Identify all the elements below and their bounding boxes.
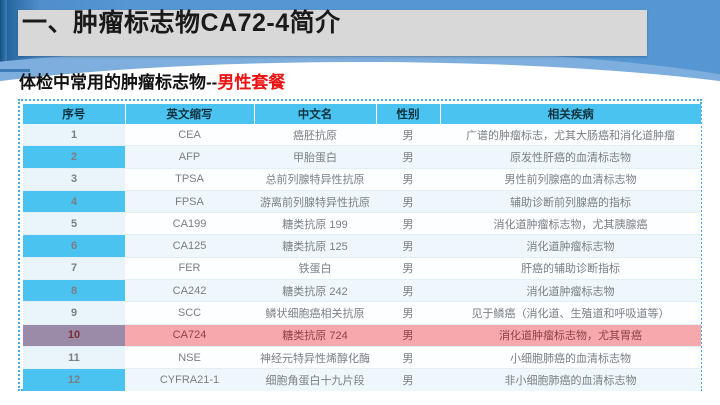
cell-abbreviation: CA125: [125, 235, 254, 257]
subtitle: 体检中常用的肿瘤标志物--男性套餐: [19, 73, 285, 93]
table-header: 序号 英文缩写 中文名 性别 相关疾病: [23, 104, 701, 124]
cell-sex: 男: [376, 168, 440, 190]
table-row: 6CA125糖类抗原 125男消化道肿瘤标志物: [23, 235, 701, 257]
cell-chinese-name: 糖类抗原 724: [254, 324, 376, 346]
cell-related-disease: 消化道肿瘤标志物，尤其胃癌: [440, 324, 701, 346]
cell-index: 11: [23, 346, 125, 368]
table-row: 8CA242糖类抗原 242男消化道肿瘤标志物: [23, 280, 701, 302]
cell-abbreviation: TPSA: [125, 168, 254, 190]
cell-index: 10: [23, 324, 125, 346]
table-row: 10CA724糖类抗原 724男消化道肿瘤标志物，尤其胃癌: [23, 324, 701, 346]
cell-index: 1: [23, 124, 125, 146]
cell-chinese-name: 糖类抗原 242: [254, 280, 376, 302]
cell-abbreviation: FPSA: [125, 190, 254, 212]
cell-sex: 男: [376, 257, 440, 279]
column-header-disease: 相关疾病: [440, 104, 701, 124]
subtitle-main-text: 体检中常用的肿瘤标志物--: [19, 73, 217, 92]
table-row: 1CEA癌胚抗原男广谱的肿瘤标志，尤其大肠癌和消化道肿瘤: [23, 124, 701, 146]
cell-index: 6: [23, 235, 125, 257]
marker-table-frame: 序号 英文缩写 中文名 性别 相关疾病 1CEA癌胚抗原男广谱的肿瘤标志，尤其大…: [18, 99, 702, 391]
column-header-abbr: 英文缩写: [125, 104, 254, 124]
cell-related-disease: 小细胞肺癌的血清标志物: [440, 346, 701, 368]
cell-abbreviation: NSE: [125, 346, 254, 368]
cell-sex: 男: [376, 369, 440, 391]
cell-abbreviation: CA724: [125, 324, 254, 346]
cell-sex: 男: [376, 213, 440, 235]
cell-index: 12: [23, 369, 125, 391]
cell-abbreviation: SCC: [125, 302, 254, 324]
cell-chinese-name: 糖类抗原 125: [254, 235, 376, 257]
cell-chinese-name: 游离前列腺特异性抗原: [254, 190, 376, 212]
cell-related-disease: 见于鳞癌（消化道、生殖道和呼吸道等）: [440, 302, 701, 324]
tumor-marker-table: 序号 英文缩写 中文名 性别 相关疾病 1CEA癌胚抗原男广谱的肿瘤标志，尤其大…: [23, 104, 701, 391]
table-row: 7FER铁蛋白男肝癌的辅助诊断指标: [23, 257, 701, 279]
cell-sex: 男: [376, 235, 440, 257]
table-row: 9SCC鳞状细胞癌相关抗原男见于鳞癌（消化道、生殖道和呼吸道等）: [23, 302, 701, 324]
cell-chinese-name: 癌胚抗原: [254, 124, 376, 146]
cell-sex: 男: [376, 190, 440, 212]
page-title: 一、肿瘤标志物CA72-4简介: [22, 9, 341, 37]
cell-related-disease: 消化道肿瘤标志物，尤其胰腺癌: [440, 213, 701, 235]
cell-abbreviation: CYFRA21-1: [125, 369, 254, 391]
cell-abbreviation: CA242: [125, 280, 254, 302]
cell-related-disease: 肝癌的辅助诊断指标: [440, 257, 701, 279]
column-header-name: 中文名: [254, 104, 376, 124]
cell-related-disease: 消化道肿瘤标志物: [440, 280, 701, 302]
slide-canvas: 一、肿瘤标志物CA72-4简介 体检中常用的肿瘤标志物--男性套餐 序号 英文缩…: [0, 0, 720, 405]
table-row: 4FPSA游离前列腺特异性抗原男辅助诊断前列腺癌的指标: [23, 190, 701, 212]
cell-related-disease: 非小细胞肺癌的血清标志物: [440, 369, 701, 391]
column-header-sex: 性别: [376, 104, 440, 124]
table-row: 2AFP甲胎蛋白男原发性肝癌的血清标志物: [23, 146, 701, 168]
cell-sex: 男: [376, 280, 440, 302]
cell-related-disease: 辅助诊断前列腺癌的指标: [440, 190, 701, 212]
banner-accent-bar: [0, 69, 30, 72]
cell-abbreviation: AFP: [125, 146, 254, 168]
table-row: 11NSE神经元特异性烯醇化酶男小细胞肺癌的血清标志物: [23, 346, 701, 368]
cell-sex: 男: [376, 302, 440, 324]
cell-chinese-name: 神经元特异性烯醇化酶: [254, 346, 376, 368]
cell-abbreviation: FER: [125, 257, 254, 279]
cell-sex: 男: [376, 346, 440, 368]
cell-index: 5: [23, 213, 125, 235]
cell-related-disease: 男性前列腺癌的血清标志物: [440, 168, 701, 190]
table-body: 1CEA癌胚抗原男广谱的肿瘤标志，尤其大肠癌和消化道肿瘤2AFP甲胎蛋白男原发性…: [23, 124, 701, 391]
cell-index: 3: [23, 168, 125, 190]
cell-chinese-name: 糖类抗原 199: [254, 213, 376, 235]
cell-sex: 男: [376, 146, 440, 168]
table-header-row: 序号 英文缩写 中文名 性别 相关疾病: [23, 104, 701, 124]
cell-related-disease: 消化道肿瘤标志物: [440, 235, 701, 257]
cell-index: 9: [23, 302, 125, 324]
cell-related-disease: 原发性肝癌的血清标志物: [440, 146, 701, 168]
cell-chinese-name: 鳞状细胞癌相关抗原: [254, 302, 376, 324]
subtitle-accent-text: 男性套餐: [217, 73, 285, 92]
cell-related-disease: 广谱的肿瘤标志，尤其大肠癌和消化道肿瘤: [440, 124, 701, 146]
cell-index: 4: [23, 190, 125, 212]
cell-sex: 男: [376, 324, 440, 346]
cell-chinese-name: 铁蛋白: [254, 257, 376, 279]
cell-sex: 男: [376, 124, 440, 146]
cell-index: 2: [23, 146, 125, 168]
cell-abbreviation: CEA: [125, 124, 254, 146]
table-row: 12CYFRA21-1细胞角蛋白十九片段男非小细胞肺癌的血清标志物: [23, 369, 701, 391]
cell-chinese-name: 细胞角蛋白十九片段: [254, 369, 376, 391]
cell-chinese-name: 甲胎蛋白: [254, 146, 376, 168]
cell-abbreviation: CA199: [125, 213, 254, 235]
cell-chinese-name: 总前列腺特异性抗原: [254, 168, 376, 190]
cell-index: 8: [23, 280, 125, 302]
cell-index: 7: [23, 257, 125, 279]
table-row: 3TPSA总前列腺特异性抗原男男性前列腺癌的血清标志物: [23, 168, 701, 190]
table-row: 5CA199糖类抗原 199男消化道肿瘤标志物，尤其胰腺癌: [23, 213, 701, 235]
column-header-index: 序号: [23, 104, 125, 124]
